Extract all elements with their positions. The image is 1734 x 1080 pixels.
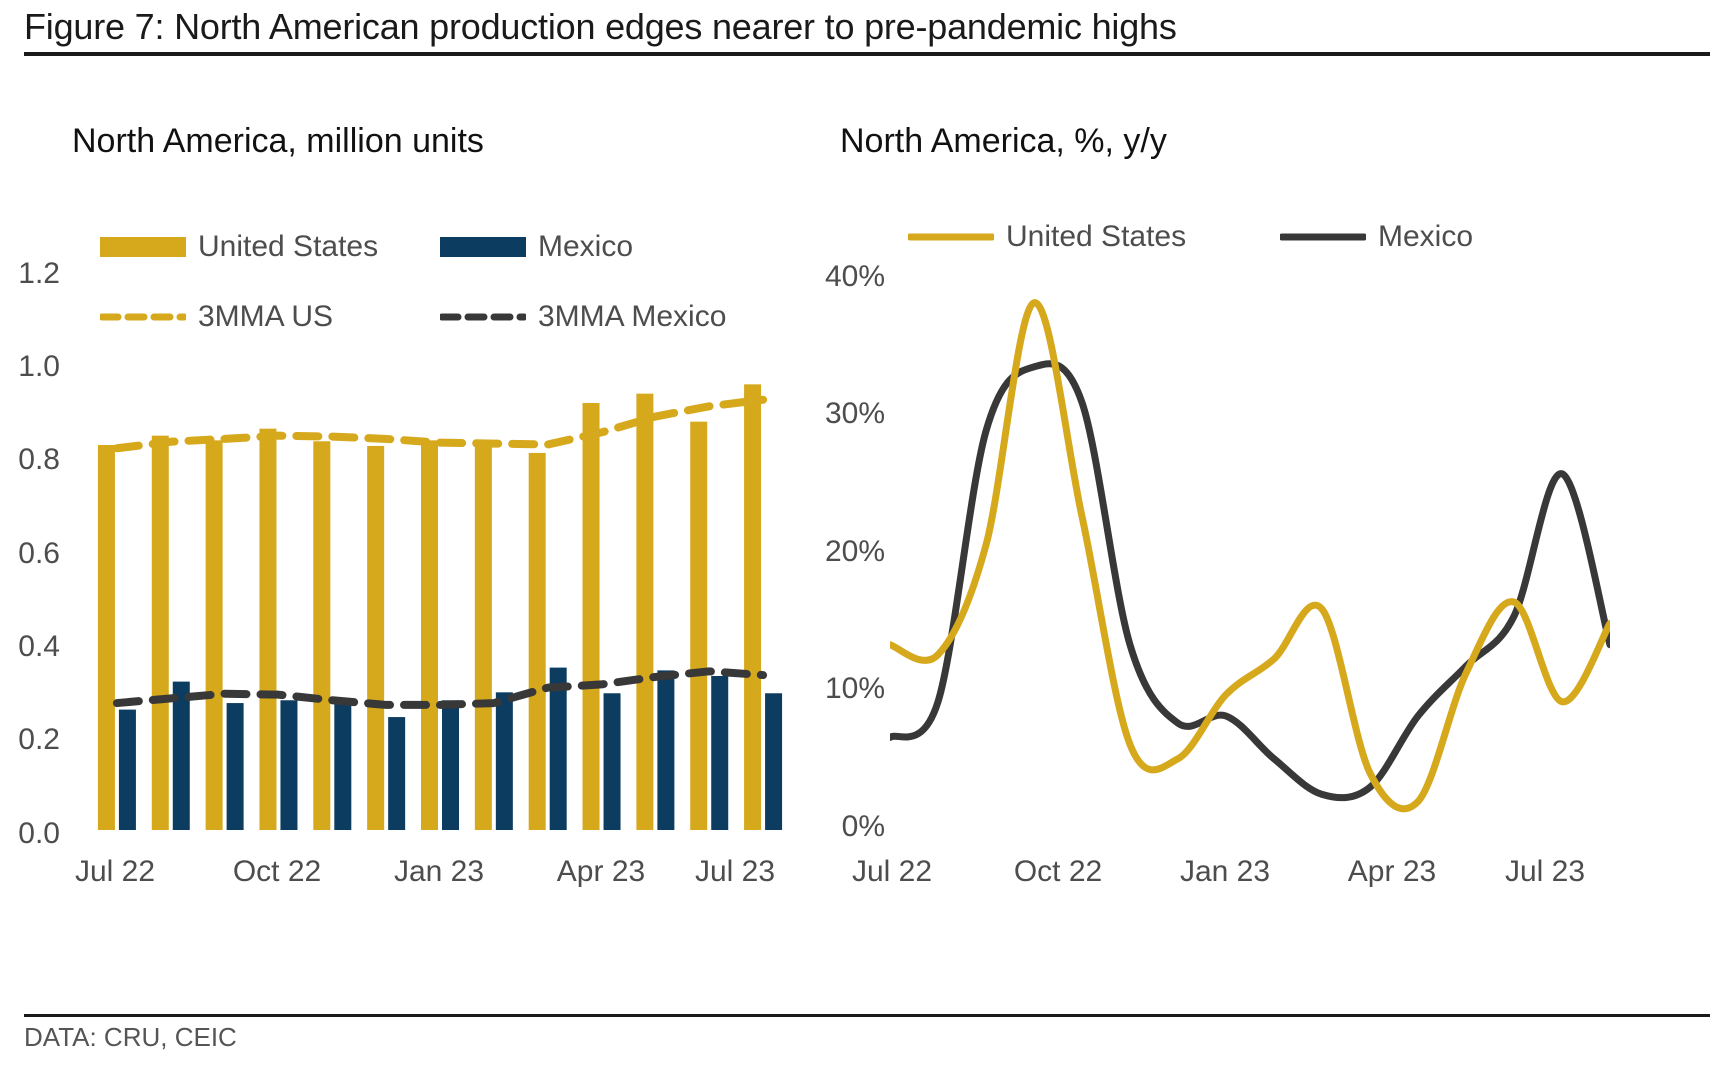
bar-mexico — [711, 676, 728, 830]
right-y-tick-10: 10% — [795, 672, 885, 706]
left-y-tick-0-2: 0.2 — [0, 723, 60, 757]
left-y-tick-0-6: 0.6 — [0, 537, 60, 571]
bar-mexico — [550, 668, 567, 830]
bar-united-states — [152, 436, 169, 830]
left-y-tick-1-0: 1.0 — [0, 350, 60, 384]
bar-mexico — [604, 693, 621, 830]
left-plot-area — [90, 270, 790, 830]
left-x-tick-jul23: Jul 23 — [645, 855, 825, 889]
bar-mexico — [119, 710, 136, 830]
legend-swatch-line-mexico — [1280, 232, 1366, 242]
right-y-tick-0: 0% — [795, 810, 885, 844]
left-chart-svg — [90, 270, 790, 830]
bar-mexico — [657, 670, 674, 830]
legend-swatch-mexico — [440, 237, 526, 257]
right-y-tick-20: 20% — [795, 535, 885, 569]
bar-mexico — [334, 698, 351, 830]
right-x-tick-jan23: Jan 23 — [1135, 855, 1315, 889]
left-y-tick-0-8: 0.8 — [0, 443, 60, 477]
right-chart-svg — [890, 260, 1610, 830]
left-y-tick-1-2: 1.2 — [0, 257, 60, 291]
left-y-tick-0-0: 0.0 — [0, 817, 60, 851]
left-x-tick-oct22: Oct 22 — [187, 855, 367, 889]
bar-united-states — [421, 440, 438, 830]
bar-united-states — [475, 441, 492, 830]
right-x-tick-oct22: Oct 22 — [968, 855, 1148, 889]
left-panel-title: North America, million units — [72, 122, 484, 161]
bar-united-states — [744, 384, 761, 830]
bar-united-states — [690, 422, 707, 830]
legend-swatch-united-states — [100, 237, 186, 257]
bar-united-states — [313, 441, 330, 830]
legend-item-line-united-states[interactable]: United States — [908, 220, 1186, 254]
legend-item-united-states[interactable]: United States — [100, 230, 378, 264]
bar-mexico — [388, 717, 405, 830]
line-mexico-yoy — [890, 364, 1610, 798]
left-y-tick-0-4: 0.4 — [0, 630, 60, 664]
left-x-tick-jan23: Jan 23 — [349, 855, 529, 889]
bar-united-states — [367, 446, 384, 830]
bar-united-states — [259, 429, 276, 830]
legend-label-line-mexico: Mexico — [1378, 220, 1473, 254]
right-x-tick-jul23: Jul 23 — [1455, 855, 1635, 889]
legend-item-line-mexico[interactable]: Mexico — [1280, 220, 1473, 254]
right-plot-area — [890, 260, 1610, 830]
footer-divider — [24, 1014, 1710, 1017]
legend-label-mexico: Mexico — [538, 230, 633, 264]
right-panel-title: North America, %, y/y — [840, 122, 1167, 161]
bar-mexico — [227, 703, 244, 830]
right-chart-panel: North America, %, y/y United States Mexi… — [840, 60, 1734, 1010]
bar-united-states — [583, 403, 600, 830]
bar-mexico — [173, 682, 190, 830]
bar-united-states — [636, 394, 653, 830]
bar-mexico — [442, 700, 459, 830]
legend-item-mexico[interactable]: Mexico — [440, 230, 633, 264]
bar-mexico — [280, 700, 297, 830]
left-chart-panel: North America, million units United Stat… — [0, 60, 840, 1010]
title-divider — [24, 52, 1710, 56]
legend-label-line-united-states: United States — [1006, 220, 1186, 254]
page-title: Figure 7: North American production edge… — [24, 6, 1177, 48]
bar-mexico — [765, 693, 782, 830]
left-x-tick-jul22: Jul 22 — [25, 855, 205, 889]
legend-swatch-line-united-states — [908, 232, 994, 242]
bar-united-states — [98, 445, 115, 830]
right-y-tick-40: 40% — [795, 260, 885, 294]
bar-united-states — [529, 453, 546, 830]
data-source-label: DATA: CRU, CEIC — [24, 1022, 237, 1053]
right-x-tick-jul22: Jul 22 — [802, 855, 982, 889]
line-3mma-us — [117, 400, 763, 449]
bar-mexico — [496, 692, 513, 830]
bar-united-states — [206, 440, 223, 830]
legend-label-united-states: United States — [198, 230, 378, 264]
right-y-tick-30: 30% — [795, 397, 885, 431]
